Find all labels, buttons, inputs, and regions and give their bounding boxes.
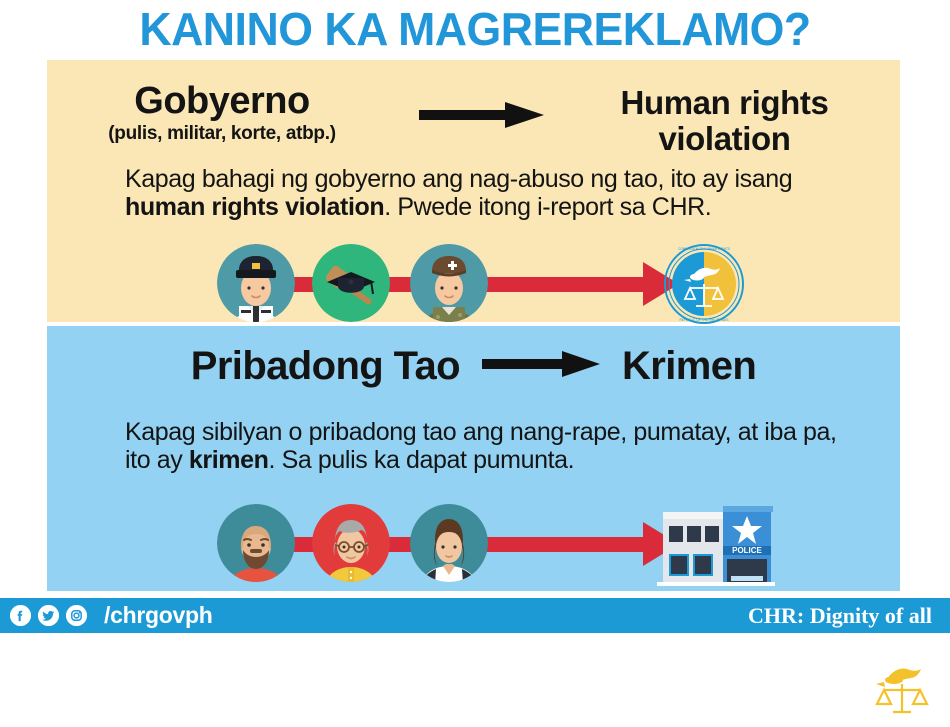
social-links: /chrgovph <box>10 602 212 629</box>
government-actor-subheading: (pulis, militar, korte, atbp.) <box>47 123 397 145</box>
woman-avatar <box>410 504 488 582</box>
instagram-icon[interactable] <box>66 605 87 626</box>
svg-text:REPUBLIC OF THE PHILIPPINES: REPUBLIC OF THE PHILIPPINES <box>679 318 728 322</box>
police-officer-avatar <box>217 244 295 322</box>
svg-text:COMMISSION ON HUMAN RIGHTS: COMMISSION ON HUMAN RIGHTS <box>678 247 730 251</box>
private-body-text: Kapag sibilyan o pribadong tao ang nang-… <box>125 418 845 475</box>
private-icon-row: POLICE <box>47 504 900 582</box>
police-station-icon: POLICE <box>657 502 775 586</box>
social-handle[interactable]: /chrgovph <box>104 602 212 629</box>
facebook-icon[interactable] <box>10 605 31 626</box>
elderly-woman-avatar <box>312 504 390 582</box>
black-arrow-right-icon <box>419 102 544 128</box>
chr-seal-icon: COMMISSION ON HUMAN RIGHTS REPUBLIC OF T… <box>664 244 744 324</box>
black-arrow-right-icon <box>482 351 600 382</box>
twitter-icon[interactable] <box>38 605 59 626</box>
government-body-text: Kapag bahagi ng gobyerno ang nag-abuso n… <box>125 165 855 222</box>
footer-bar: /chrgovph CHR: Dignity of all <box>0 598 950 633</box>
bearded-man-avatar <box>217 504 295 582</box>
private-heading-row: Pribadong Tao Krimen <box>47 346 900 386</box>
soldier-avatar <box>410 244 488 322</box>
footer-tagline: CHR: Dignity of all <box>748 603 932 629</box>
svg-text:POLICE: POLICE <box>732 546 762 555</box>
private-actor-heading: Pribadong Tao <box>191 346 460 386</box>
government-actor-block: Gobyerno (pulis, militar, korte, atbp.) <box>47 82 397 145</box>
page-title: KANINO KA MAGREREKLAMO? <box>14 2 936 56</box>
panel-government: Gobyerno (pulis, militar, korte, atbp.) … <box>47 60 900 322</box>
private-result-heading: Krimen <box>622 346 756 386</box>
government-actor-heading: Gobyerno <box>47 82 397 120</box>
government-icon-row: COMMISSION ON HUMAN RIGHTS REPUBLIC OF T… <box>47 244 900 322</box>
panel-private-person: Pribadong Tao Krimen Kapag sibilyan o pr… <box>47 326 900 591</box>
infographic-canvas: KANINO KA MAGREREKLAMO? Gobyerno (pulis,… <box>0 0 950 633</box>
government-result-heading: Human rights violation <box>552 85 897 156</box>
court-gavel-avatar <box>312 244 390 322</box>
chr-logo-watermark-icon <box>873 660 931 722</box>
